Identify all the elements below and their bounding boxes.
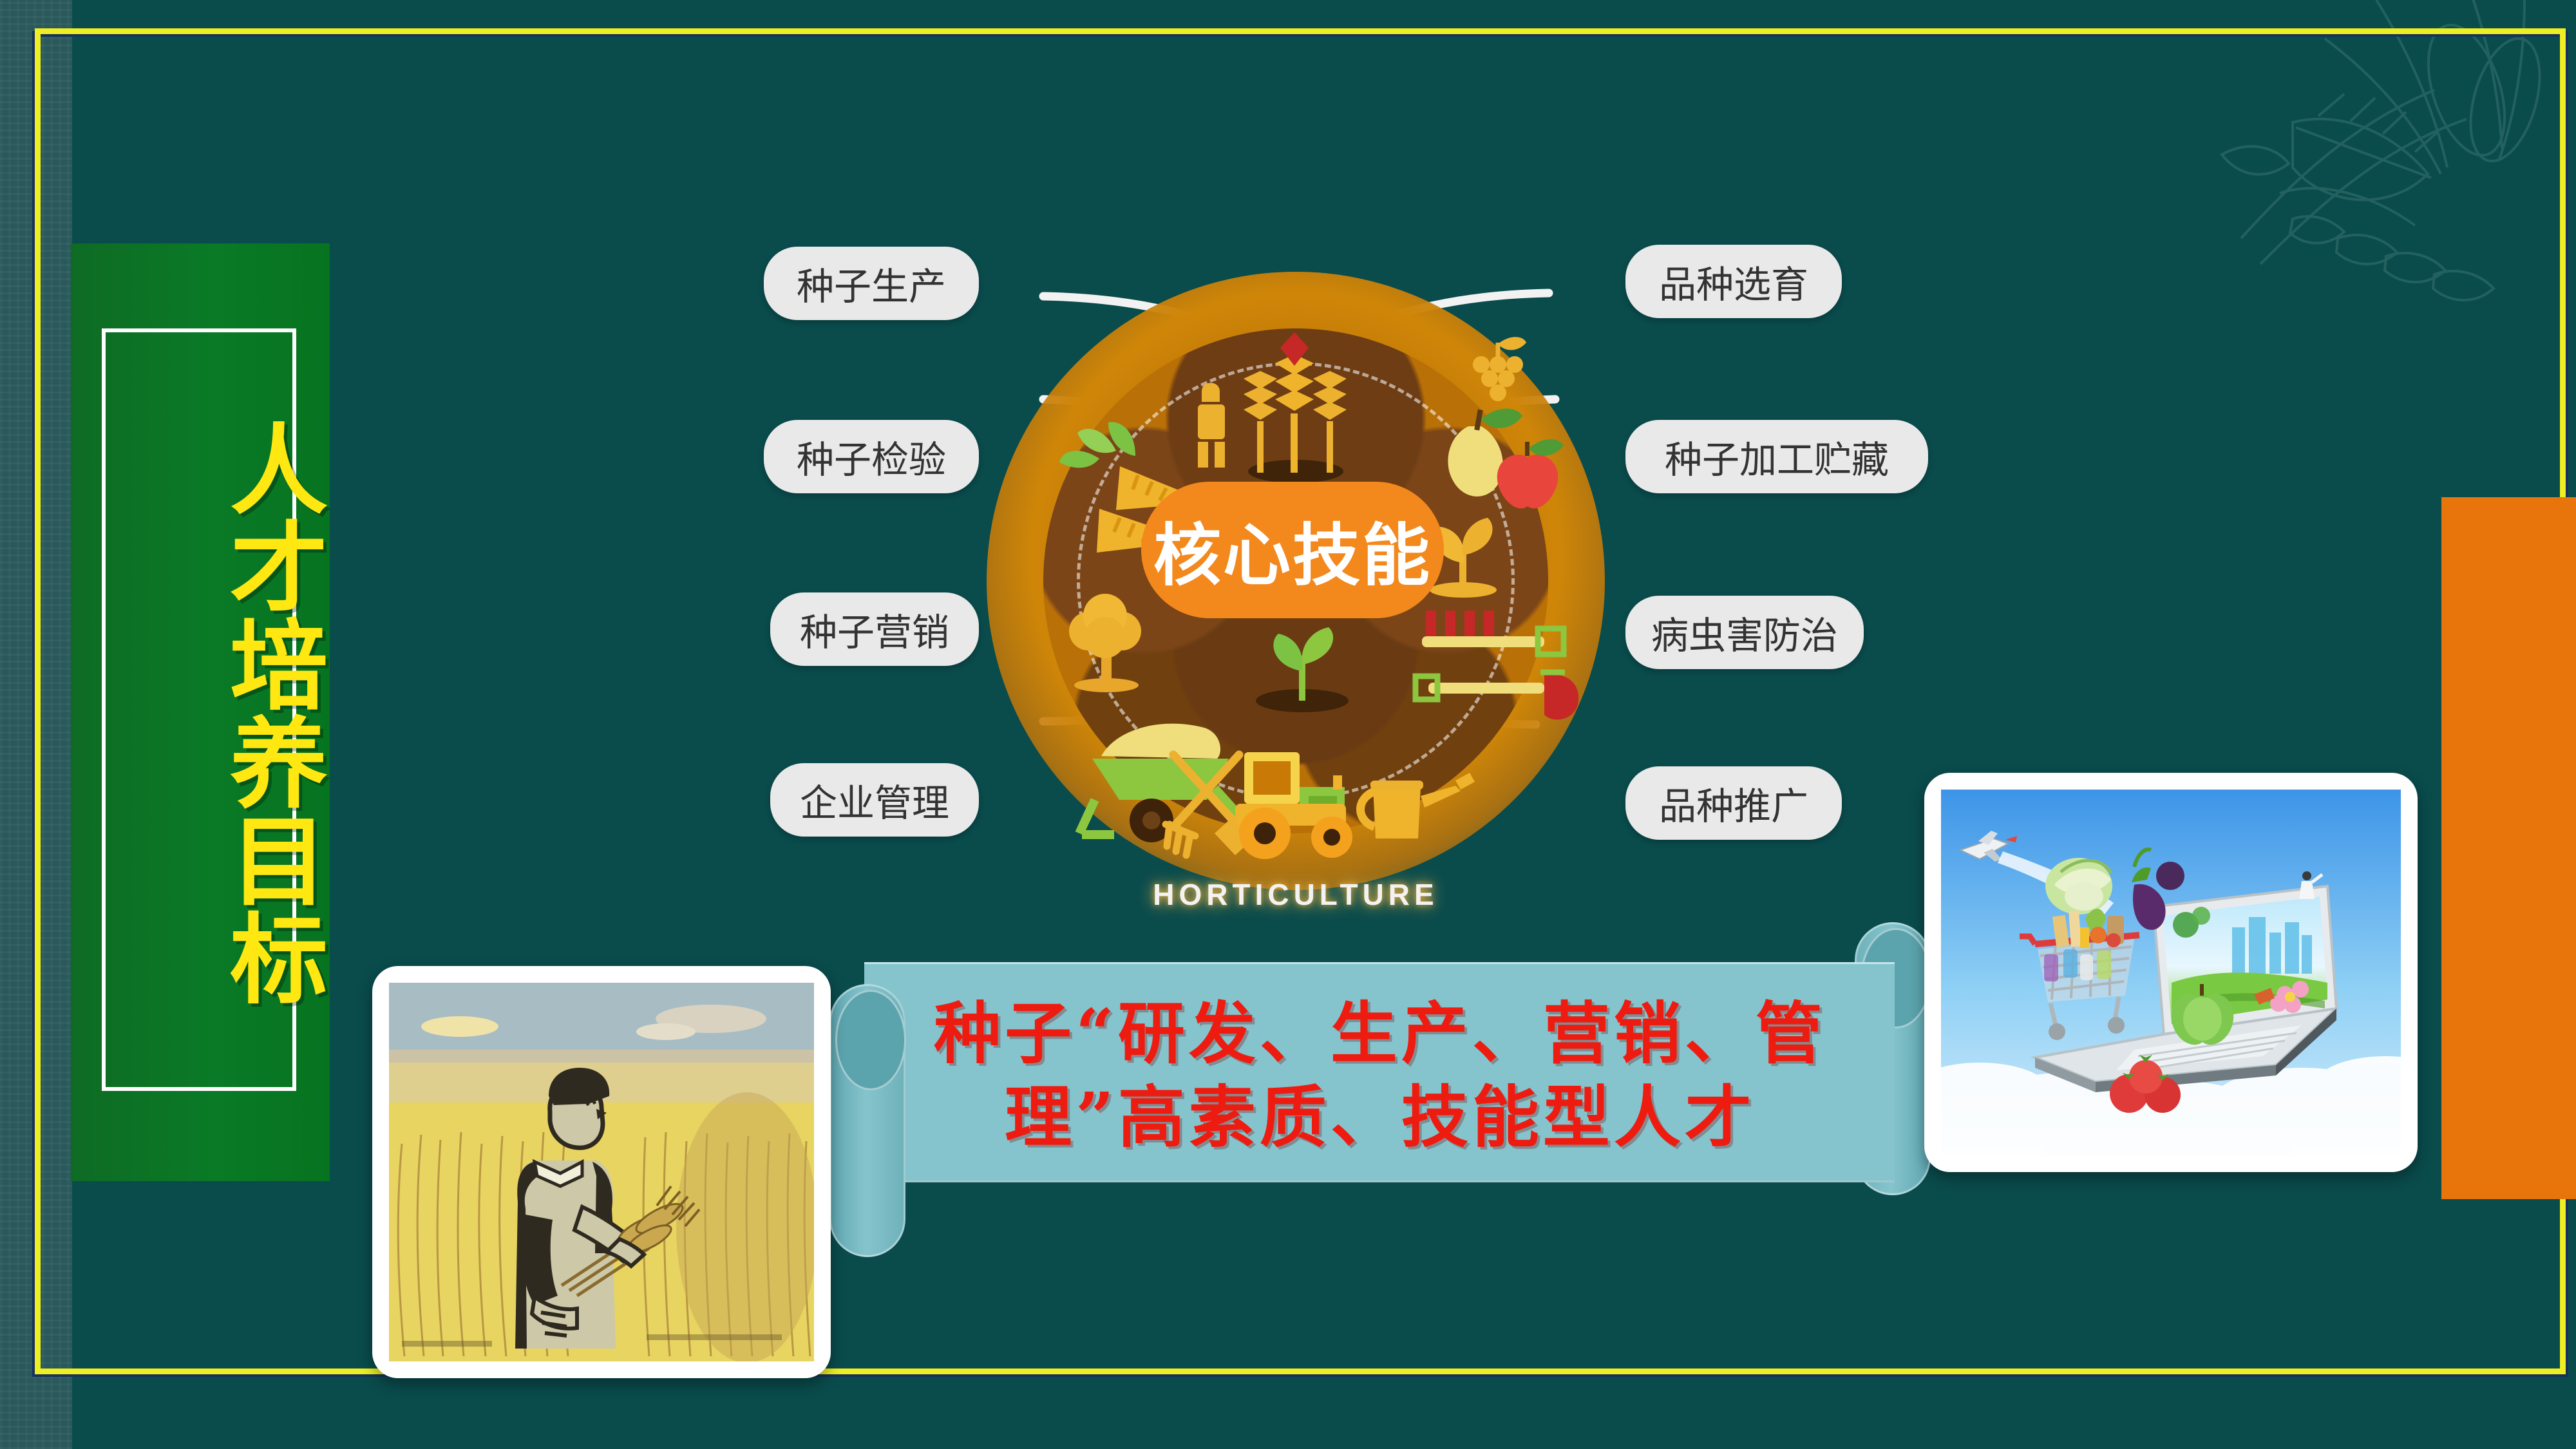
photo-card-farmer[interactable]	[372, 966, 831, 1378]
label-seed-inspection[interactable]: 种子检验	[764, 420, 979, 493]
garden-tools-icon	[1416, 611, 1578, 719]
core-skills-badge: 核心技能	[1141, 482, 1444, 618]
banner-text-line1: 种子“研发、生产、营销、管	[920, 992, 1841, 1075]
label-seed-marketing[interactable]: 种子营销	[770, 592, 979, 666]
farmer-wheat-field-image	[389, 983, 814, 1361]
watering-can-icon	[1361, 773, 1475, 838]
silo-icon	[1198, 383, 1225, 468]
photo-card-ecommerce[interactable]	[1924, 773, 2418, 1172]
label-seed-processing[interactable]: 种子加工贮藏	[1625, 420, 1928, 493]
orange-accent-bar	[2441, 497, 2576, 1199]
grapes-icon	[1473, 337, 1526, 401]
slide-canvas: 人才培养目标	[0, 0, 2576, 1449]
banner-roll-left	[829, 984, 905, 1257]
title-panel: 人才培养目标	[71, 243, 330, 1181]
tractor-icon	[1235, 752, 1352, 859]
label-enterprise-mgmt[interactable]: 企业管理	[770, 763, 979, 837]
label-seed-production[interactable]: 种子生产	[764, 247, 979, 320]
label-pest-control[interactable]: 病虫害防治	[1625, 596, 1864, 669]
apple-icon	[1497, 439, 1564, 509]
horticulture-caption: HORTICULTURE	[987, 877, 1605, 912]
label-variety-breeding[interactable]: 品种选育	[1625, 245, 1842, 318]
objective-banner: 种子“研发、生产、营销、管 理”高素质、技能型人才	[829, 953, 1931, 1198]
tree-icon	[1069, 594, 1141, 692]
banner-text: 种子“研发、生产、营销、管 理”高素质、技能型人才	[920, 992, 1841, 1159]
label-variety-promotion[interactable]: 品种推广	[1625, 766, 1842, 840]
banner-text-line2: 理”高素质、技能型人才	[920, 1075, 1841, 1159]
plant-sprout-icon	[1256, 627, 1349, 712]
page-title: 人才培养目标	[71, 352, 330, 1073]
agri-ecommerce-image	[1941, 790, 2401, 1155]
wheat-icon	[1244, 332, 1347, 483]
